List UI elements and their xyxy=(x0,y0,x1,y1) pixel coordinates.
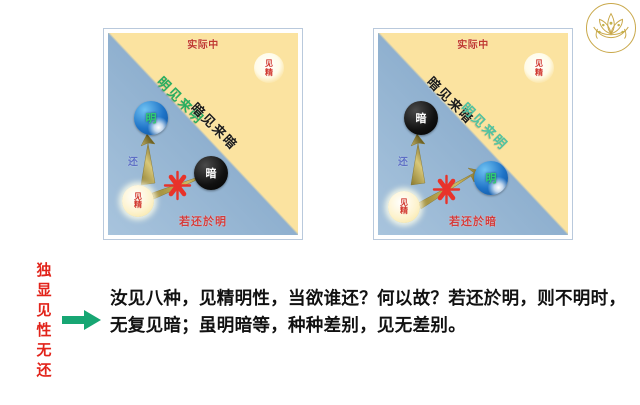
diagram-right-bottom-label: 若还於暗 xyxy=(378,213,568,229)
diagram-left-dark-sphere-label: 暗 xyxy=(206,168,217,179)
diagram-right: 实际中 暗见来暗 明见来明 见 精 xyxy=(373,28,573,240)
diagram-left-dark-sphere: 暗 xyxy=(194,156,228,190)
vertical-topic-label: 独 显 见 性 无 还 xyxy=(31,260,57,380)
diagram-left-jianjing-source-char2: 精 xyxy=(134,201,142,209)
diagram-right-dark-sphere: 暗 xyxy=(404,101,438,135)
sutra-passage: 汝见八种，见精明性，当欲谁还？何以故？若还於明，则不明时，无复见暗；虽明暗等，种… xyxy=(110,286,630,340)
vertical-topic-char-3: 性 xyxy=(36,320,51,340)
lotus-logo xyxy=(586,3,636,53)
diagram-right-bright-sphere: 明 xyxy=(474,161,508,195)
diagram-right-return-label: 还 xyxy=(398,153,408,168)
diagram-left-bottom-label: 若还於明 xyxy=(108,213,298,229)
diagram-right-bright-sphere-label: 明 xyxy=(486,173,497,184)
diagram-left-return-label: 还 xyxy=(128,153,138,168)
diagram-right-canvas: 实际中 暗见来暗 明见来明 见 精 xyxy=(378,33,568,235)
vertical-topic-char-2: 见 xyxy=(36,300,51,320)
vertical-topic-char-5: 还 xyxy=(36,360,51,380)
diagram-left-bright-sphere: 明 xyxy=(134,101,168,135)
diagram-right-dark-sphere-label: 暗 xyxy=(416,113,427,124)
vertical-topic-char-4: 无 xyxy=(36,340,51,360)
diagram-left-bright-sphere-label: 明 xyxy=(146,113,157,124)
diagram-left: 实际中 明见来明 暗见来暗 见 精 xyxy=(103,28,303,240)
vertical-topic-char-1: 显 xyxy=(36,280,51,300)
vertical-topic-char-0: 独 xyxy=(36,260,51,280)
green-right-arrow-icon xyxy=(62,309,102,331)
diagram-left-canvas: 实际中 明见来明 暗见来暗 见 精 xyxy=(108,33,298,235)
